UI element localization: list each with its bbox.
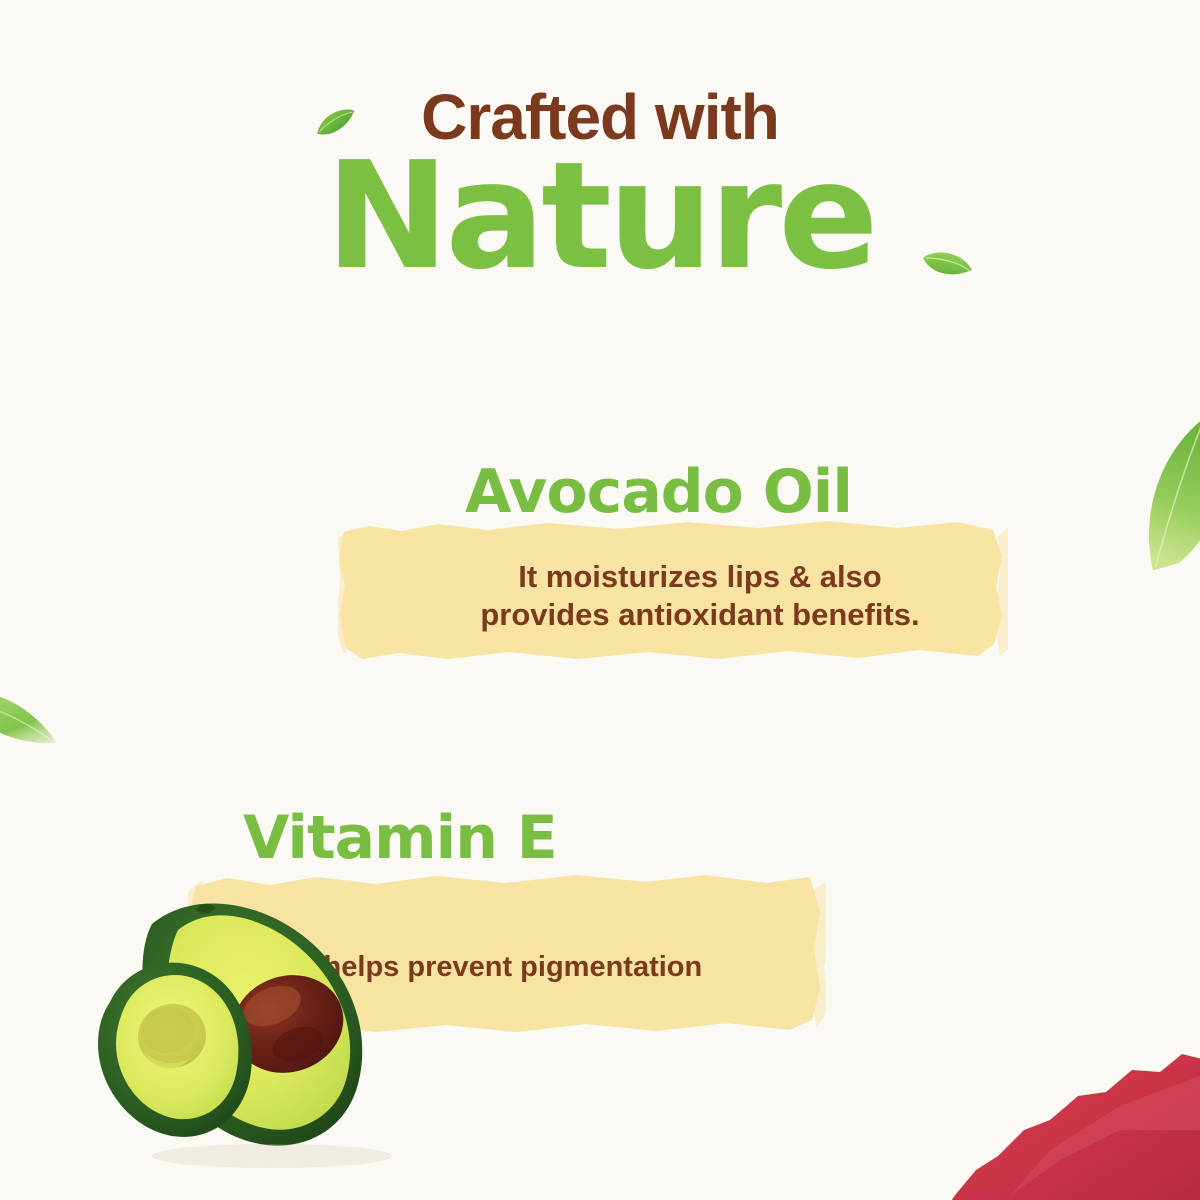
poster-canvas: Crafted with Nature Avocado Oil It moist… [0,0,1200,1200]
ingredient-title-avocado: Avocado Oil [465,462,852,522]
ingredient-avocado-oil: Avocado Oil It moisturizes lips & also p… [0,440,1200,730]
ingredient-title-vitamin-e: Vitamin E [243,808,557,868]
ingredient-description-avocado: It moisturizes lips & also provides anti… [420,558,980,634]
headline-line-2: Nature [0,145,1200,287]
ingredient-description-vitamin-e: It helps prevent pigmentation [210,950,790,985]
headline-block: Crafted with Nature [0,86,1200,287]
ingredient-vitamin-e: Vitamin E It helps prevent pigmentation [0,790,1200,1080]
ingredient-description-avocado-line2: provides antioxidant benefits. [480,597,919,632]
ingredient-description-avocado-line1: It moisturizes lips & also [518,559,881,594]
